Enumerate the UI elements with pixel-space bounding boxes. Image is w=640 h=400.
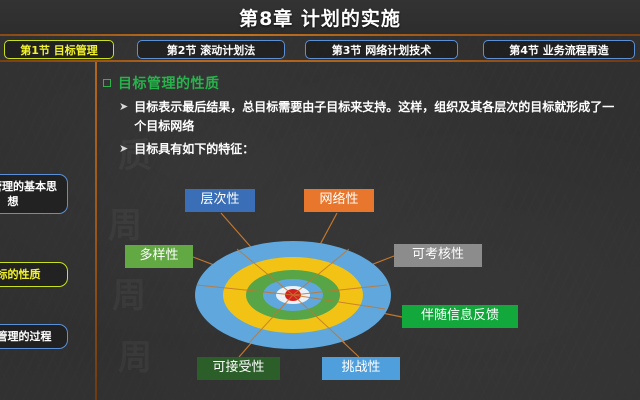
content-heading-label: 目标管理的性质: [118, 73, 220, 93]
tab-section-4[interactable]: 第4节 业务流程再造: [483, 40, 635, 59]
slide-title-bar: 第8章 计划的实施: [0, 0, 640, 34]
diagram-node-assessable[interactable]: 可考核性: [394, 244, 482, 267]
goal-characteristics-diagram: 层次性 网络性 可考核性 伴随信息反馈 多样性 可接受性 挑战性: [97, 167, 640, 400]
bullet-item: ➤ 目标表示最后结果，总目标需要由子目标来支持。这样，组织及其各层次的目标就形成…: [119, 98, 624, 136]
sidebar-item-basic-ideas[interactable]: 目标管理的基本思想: [0, 174, 68, 214]
section-tab-bar: 第1节 目标管理 第2节 滚动计划法 第3节 网络计划技术 第4节 业务流程再造: [0, 38, 640, 60]
bullet-item: ➤ 目标具有如下的特征：: [119, 140, 419, 159]
tab-section-3[interactable]: 第3节 网络计划技术: [305, 40, 458, 59]
title-divider-rule: [0, 34, 640, 36]
sidebar-item-goal-nature[interactable]: 目标的性质: [0, 262, 68, 287]
sidebar-nav: 目标管理的基本思想 目标的性质 目标管理的过程: [0, 62, 95, 400]
main-content: 目标管理的性质 ➤ 目标表示最后结果，总目标需要由子目标来支持。这样，组织及其各…: [97, 62, 640, 400]
slide-canvas: 质 周 周 周 第8章 计划的实施 第1节 目标管理 第2节 滚动计划法 第3节…: [0, 0, 640, 400]
square-bullet-icon: [103, 79, 111, 87]
diagram-node-acceptable[interactable]: 可接受性: [197, 357, 280, 380]
content-heading: 目标管理的性质: [103, 73, 220, 93]
arrow-bullet-icon: ➤: [119, 98, 128, 115]
diagram-node-network[interactable]: 网络性: [304, 189, 374, 212]
tab-section-1[interactable]: 第1节 目标管理: [4, 40, 114, 59]
tab-section-2[interactable]: 第2节 滚动计划法: [137, 40, 285, 59]
arrow-bullet-icon: ➤: [119, 140, 128, 157]
diagram-node-challenging[interactable]: 挑战性: [322, 357, 400, 380]
bullet-text: 目标表示最后结果，总目标需要由子目标来支持。这样，组织及其各层次的目标就形成了一…: [134, 98, 624, 136]
bullet-text: 目标具有如下的特征：: [134, 140, 254, 159]
diagram-node-feedback[interactable]: 伴随信息反馈: [402, 305, 518, 328]
diagram-node-hierarchy[interactable]: 层次性: [185, 189, 255, 212]
page-title: 第8章 计划的实施: [239, 4, 401, 31]
diagram-node-diversity[interactable]: 多样性: [125, 245, 193, 268]
sidebar-item-mbo-process[interactable]: 目标管理的过程: [0, 324, 68, 349]
